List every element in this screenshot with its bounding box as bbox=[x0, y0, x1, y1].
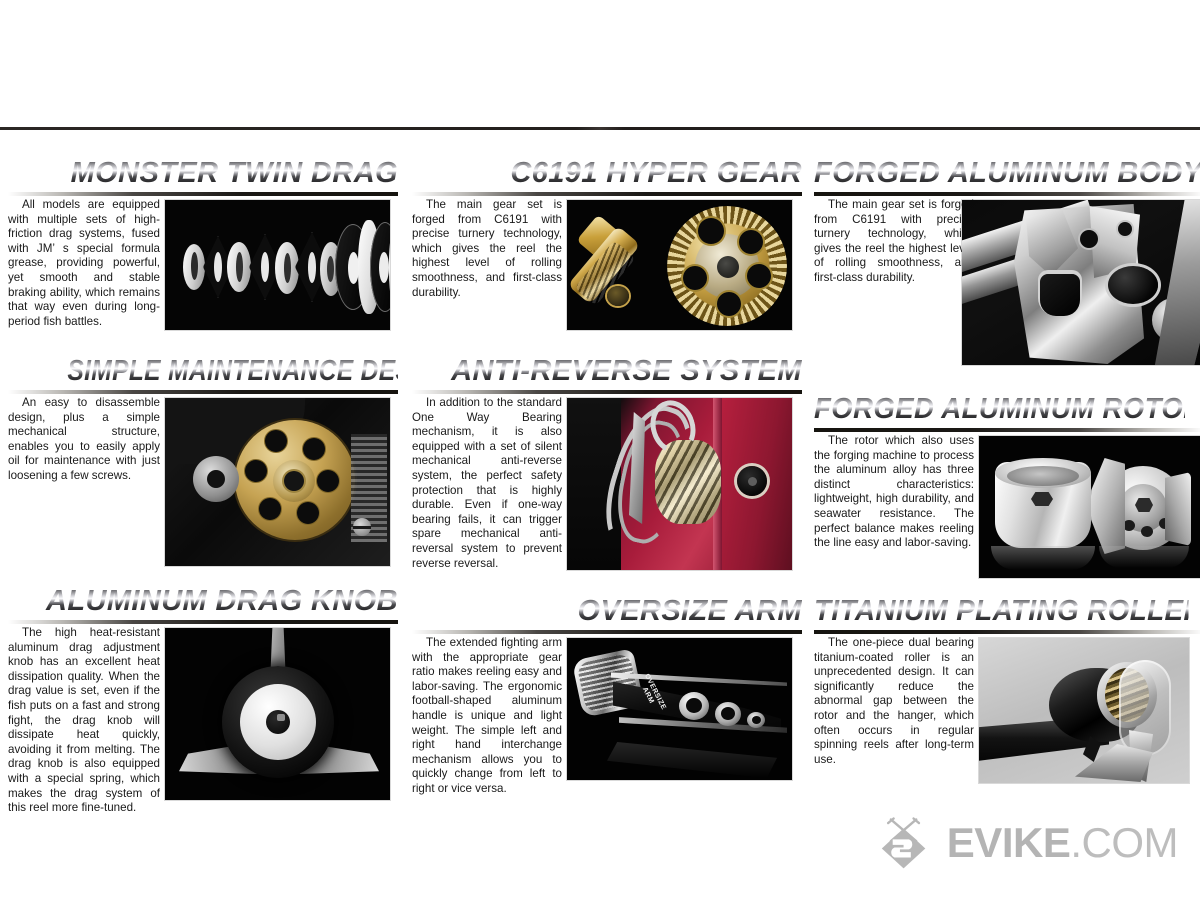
feature-simple-maintenance-design: SIMPLE MAINTENANCE DESIGN An easy to dis… bbox=[8, 350, 398, 570]
heading-block: ANTI-REVERSE SYSTEM bbox=[412, 350, 802, 396]
feature-body: An easy to disassemble design, plus a si… bbox=[8, 396, 398, 568]
feature-photo-maintenance bbox=[165, 398, 390, 566]
heading-underline bbox=[8, 620, 398, 624]
feature-title: ALUMINUM DRAG KNOB bbox=[8, 586, 398, 616]
heading-underline bbox=[8, 390, 398, 394]
feature-column-3: FORGED ALUMINUM BODY The main gear set i… bbox=[814, 140, 1200, 840]
feature-aluminum-drag-knob: ALUMINUM DRAG KNOB The high heat-resista… bbox=[8, 580, 398, 820]
feature-paragraph: The rotor which also uses the forging ma… bbox=[814, 434, 974, 551]
feature-photo-oversize-arm: OVERSIZE ARM bbox=[567, 638, 792, 780]
feature-body: In addition to the standard One Way Bear… bbox=[412, 396, 802, 588]
heading-underline bbox=[814, 428, 1200, 432]
feature-title: MONSTER TWIN DRAG bbox=[8, 158, 398, 188]
feature-paragraph: An easy to disassemble design, plus a si… bbox=[8, 396, 160, 484]
feature-photo-aluminum-body bbox=[962, 200, 1200, 365]
heading-block: TITANIUM PLATING ROLLER bbox=[814, 590, 1200, 636]
heading-underline bbox=[8, 192, 398, 196]
heading-block: SIMPLE MAINTENANCE DESIGN bbox=[8, 350, 398, 396]
feature-anti-reverse-system: ANTI-REVERSE SYSTEM In addition to the s… bbox=[412, 350, 802, 590]
feature-paragraph: The main gear set is forged from C6191 w… bbox=[412, 198, 562, 300]
brand-tld: .COM bbox=[1070, 819, 1178, 866]
feature-photo-anti-reverse bbox=[567, 398, 792, 570]
heading-block: FORGED ALUMINUM BODY bbox=[814, 152, 1200, 198]
feature-body: The rotor which also uses the forging ma… bbox=[814, 434, 1200, 598]
feature-column-1: MONSTER TWIN DRAG All models are equippe… bbox=[8, 140, 398, 840]
top-divider-rule bbox=[0, 127, 1200, 130]
feature-paragraph: In addition to the standard One Way Bear… bbox=[412, 396, 562, 571]
heading-block: OVERSIZE ARM bbox=[412, 590, 802, 636]
heading-block: ALUMINUM DRAG KNOB bbox=[8, 580, 398, 626]
feature-oversize-arm: OVERSIZE ARM The extended fighting arm w… bbox=[412, 590, 802, 820]
heading-underline bbox=[412, 630, 802, 634]
feature-body: The main gear set is forged from C6191 w… bbox=[814, 198, 1200, 370]
feature-paragraph: The extended fighting arm with the appro… bbox=[412, 636, 562, 797]
feature-title: SIMPLE MAINTENANCE DESIGN bbox=[67, 356, 398, 386]
feature-body: All models are equipped with multiple se… bbox=[8, 198, 398, 350]
feature-body: The extended fighting arm with the appro… bbox=[412, 636, 802, 818]
feature-photo-aluminum-rotor bbox=[979, 436, 1200, 578]
heading-block: FORGED ALUMINUM ROTOR bbox=[814, 388, 1200, 434]
feature-c6191-hyper-gear: C6191 HYPER GEAR The main gear set is fo… bbox=[412, 152, 802, 352]
evike-brand-text: EVIKE.COM bbox=[947, 822, 1178, 864]
heading-block: C6191 HYPER GEAR bbox=[412, 152, 802, 198]
feature-title: ANTI-REVERSE SYSTEM bbox=[412, 356, 802, 386]
feature-title: FORGED ALUMINUM ROTOR bbox=[814, 394, 1185, 424]
feature-photo-titanium-roller bbox=[979, 638, 1189, 783]
feature-paragraph: The high heat-resistant aluminum drag ad… bbox=[8, 626, 160, 816]
feature-body: The high heat-resistant aluminum drag ad… bbox=[8, 626, 398, 818]
feature-forged-aluminum-rotor: FORGED ALUMINUM ROTOR The rotor which al… bbox=[814, 388, 1200, 600]
feature-forged-aluminum-body: FORGED ALUMINUM BODY The main gear set i… bbox=[814, 152, 1200, 372]
evike-crossed-rifles-diamond-logo-icon bbox=[880, 814, 938, 872]
feature-titanium-plating-roller: TITANIUM PLATING ROLLER The one-piece du… bbox=[814, 590, 1200, 820]
brand-name-bold: EVIKE bbox=[947, 819, 1071, 866]
heading-block: MONSTER TWIN DRAG bbox=[8, 152, 398, 198]
feature-sheet: MONSTER TWIN DRAG All models are equippe… bbox=[0, 140, 1200, 840]
heading-underline bbox=[412, 390, 802, 394]
feature-title: OVERSIZE ARM bbox=[412, 596, 802, 626]
feature-paragraph: The one-piece dual bearing titanium-coat… bbox=[814, 636, 974, 767]
feature-photo-drag-knob bbox=[165, 628, 390, 800]
feature-column-2: C6191 HYPER GEAR The main gear set is fo… bbox=[412, 140, 802, 840]
heading-underline bbox=[412, 192, 802, 196]
feature-paragraph: All models are equipped with multiple se… bbox=[8, 198, 160, 329]
feature-photo-hyper-gear bbox=[567, 200, 792, 330]
heading-underline bbox=[814, 192, 1200, 196]
feature-photo-drag-washers bbox=[165, 200, 390, 330]
feature-body: The one-piece dual bearing titanium-coat… bbox=[814, 636, 1200, 818]
evike-watermark: EVIKE.COM bbox=[880, 814, 1178, 872]
feature-title: FORGED ALUMINUM BODY bbox=[814, 158, 1200, 188]
heading-underline bbox=[814, 630, 1200, 634]
feature-body: The main gear set is forged from C6191 w… bbox=[412, 198, 802, 350]
feature-title: C6191 HYPER GEAR bbox=[412, 158, 802, 188]
feature-paragraph: The main gear set is forged from C6191 w… bbox=[814, 198, 974, 286]
feature-title: TITANIUM PLATING ROLLER bbox=[814, 596, 1189, 626]
feature-monster-twin-drag: MONSTER TWIN DRAG All models are equippe… bbox=[8, 152, 398, 352]
